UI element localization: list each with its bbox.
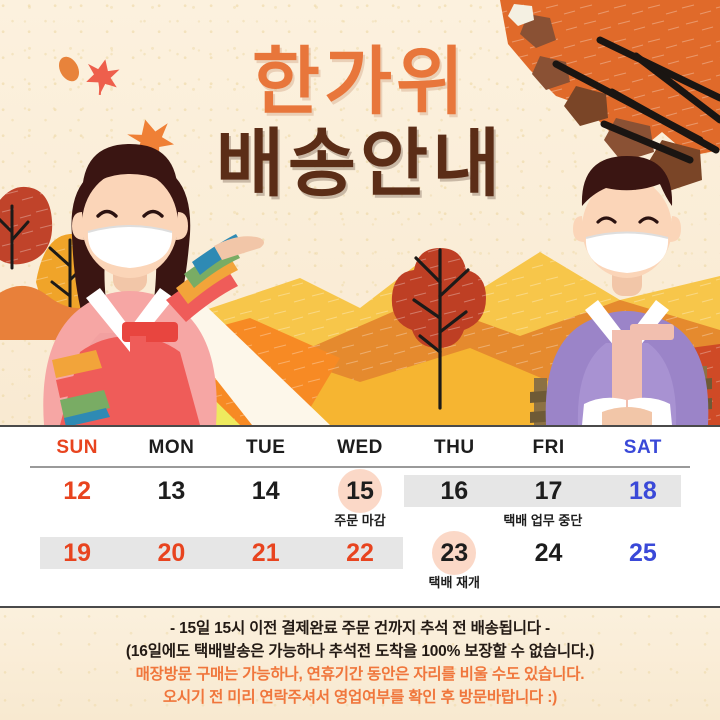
- day-number-21: 21: [247, 535, 285, 571]
- calendar-week-row-2: 19 20 21 22 23 택배 재개: [30, 530, 690, 592]
- day-number-25: 25: [624, 535, 662, 571]
- day-number-17: 17: [530, 473, 568, 509]
- day-cell-20[interactable]: 20: [124, 530, 218, 592]
- calendar-week-row-1: 택배 업무 중단 12 13 14 15 주문 마감: [30, 468, 690, 530]
- day-number-13: 13: [152, 473, 190, 509]
- day-number-16: 16: [435, 473, 473, 509]
- day-cell-19[interactable]: 19: [30, 530, 124, 592]
- day-number-19: 19: [58, 535, 96, 571]
- notice-line-2: (16일에도 택배발송은 가능하나 추석전 도착을 100% 보장할 수 없습니…: [0, 640, 720, 663]
- man-mask: [586, 233, 668, 274]
- weekday-fri: FRI: [501, 437, 595, 459]
- order-deadline-label: 주문 마감: [334, 510, 385, 529]
- day-number-14: 14: [247, 473, 285, 509]
- day-cell-25[interactable]: 25: [596, 530, 690, 592]
- hangawi-delivery-notice-poster: 한가위 배송안내 SUN MON TUE WED THU FRI SAT 택배 …: [0, 0, 720, 720]
- weekday-sun: SUN: [30, 437, 124, 459]
- day-cell-23[interactable]: 23 택배 재개: [407, 530, 501, 592]
- day-cell-14[interactable]: 14: [219, 468, 313, 530]
- day-cell-24[interactable]: 24: [501, 530, 595, 592]
- weekday-header-row: SUN MON TUE WED THU FRI SAT: [30, 427, 690, 459]
- day-number-15: 15: [341, 473, 379, 509]
- notice-footer: - 15일 15시 이전 결제완료 주문 건까지 추석 전 배송됩니다 - (1…: [0, 608, 720, 720]
- falling-maple-leaf-icon-1: [82, 56, 122, 98]
- illustration-svg: [0, 0, 720, 425]
- day-number-18: 18: [624, 473, 662, 509]
- notice-line-3: 매장방문 구매는 가능하나, 연휴기간 동안은 자리를 비울 수도 있습니다.: [0, 663, 720, 686]
- hero-illustration: 한가위 배송안내: [0, 0, 720, 425]
- weekday-tue: TUE: [219, 437, 313, 459]
- weekday-mon: MON: [124, 437, 218, 459]
- day-number-12: 12: [58, 473, 96, 509]
- falling-leaf-acorn-icon: [55, 53, 83, 84]
- calendar-day-row-2: 19 20 21 22 23 택배 재개: [30, 530, 690, 592]
- day-number-20: 20: [152, 535, 190, 571]
- day-number-23: 23: [435, 535, 473, 571]
- day-cell-21[interactable]: 21: [219, 530, 313, 592]
- day-cell-13[interactable]: 13: [124, 468, 218, 530]
- delivery-suspension-label: 택배 업무 중단: [404, 510, 681, 529]
- weekday-wed: WED: [313, 437, 407, 459]
- day-number-24: 24: [530, 535, 568, 571]
- man-hands: [602, 407, 652, 425]
- notice-line-1: - 15일 15시 이전 결제완료 주문 건까지 추석 전 배송됩니다 -: [0, 617, 720, 640]
- weekday-sat: SAT: [596, 437, 690, 459]
- weekday-thu: THU: [407, 437, 501, 459]
- day-cell-22[interactable]: 22: [313, 530, 407, 592]
- day-number-22: 22: [341, 535, 379, 571]
- calendar-panel: SUN MON TUE WED THU FRI SAT 택배 업무 중단 12: [0, 425, 720, 608]
- day-cell-15[interactable]: 15 주문 마감: [313, 468, 407, 530]
- day-cell-12[interactable]: 12: [30, 468, 124, 530]
- notice-line-4: 오시기 전 미리 연락주셔서 영업여부를 확인 후 방문바랍니다 :): [0, 686, 720, 709]
- man-ribbon: [630, 324, 674, 340]
- calendar-grid: SUN MON TUE WED THU FRI SAT 택배 업무 중단 12: [30, 427, 690, 592]
- delivery-resume-label: 택배 재개: [429, 572, 480, 591]
